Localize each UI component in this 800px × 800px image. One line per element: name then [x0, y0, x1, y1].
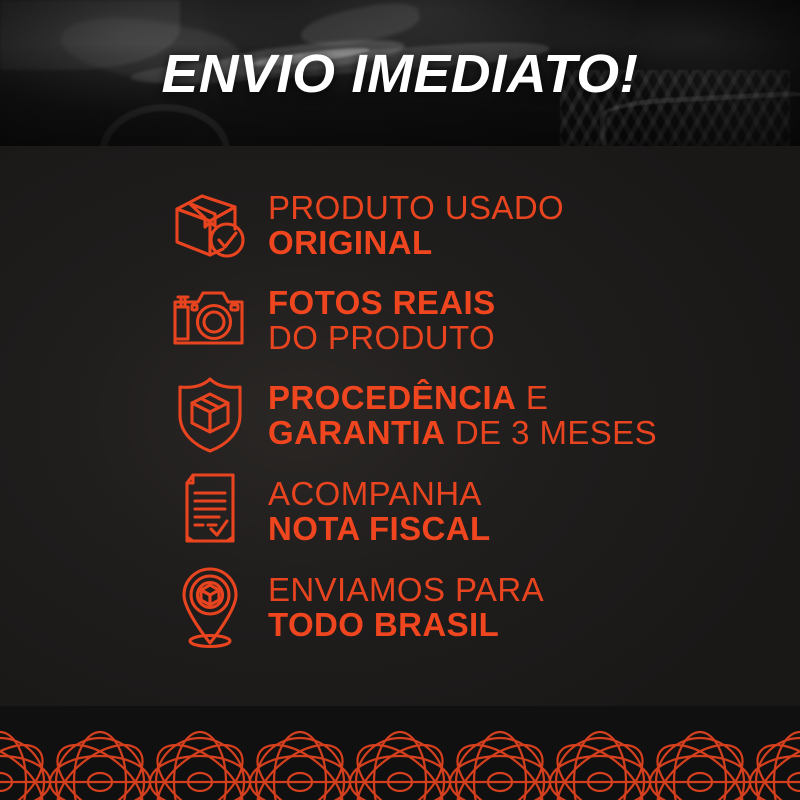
feature-line-2-bold: GARANTIA [268, 414, 445, 451]
feature-item-nota-fiscal: ACOMPANHA NOTA FISCAL [160, 468, 491, 554]
feature-item-todo-brasil: ENVIAMOS PARA TODO BRASIL [160, 564, 544, 650]
feature-line-2: TODO BRASIL [268, 608, 544, 642]
box-check-icon [160, 182, 260, 268]
feature-item-fotos-reais: FOTOS REAIS DO PRODUTO [160, 277, 496, 363]
invoice-check-icon [160, 468, 260, 554]
feature-line-1-bold: PROCEDÊNCIA [268, 379, 516, 416]
feature-line-1: ACOMPANHA [268, 477, 491, 511]
feature-line-1: PROCEDÊNCIA E [268, 381, 657, 415]
feature-text: ENVIAMOS PARA TODO BRASIL [268, 573, 544, 641]
promo-banner: ENVIO IMEDIATO! PROD [0, 0, 800, 800]
feature-line-2: ORIGINAL [268, 226, 564, 260]
feature-item-produto-original: PRODUTO USADO ORIGINAL [160, 182, 564, 268]
feature-line-1: ENVIAMOS PARA [268, 573, 544, 607]
feature-line-1: PRODUTO USADO [268, 191, 564, 225]
banner-header: ENVIO IMEDIATO! [0, 0, 800, 146]
feature-line-1: FOTOS REAIS [268, 286, 496, 320]
camera-icon [160, 277, 260, 363]
feature-line-2: NOTA FISCAL [268, 512, 491, 546]
feature-text: PROCEDÊNCIA E GARANTIA DE 3 MESES [268, 381, 657, 449]
page-title: ENVIO IMEDIATO! [0, 44, 800, 104]
decorative-border-band [0, 706, 800, 800]
floral-pattern [0, 706, 800, 800]
shield-box-icon [160, 372, 260, 458]
features-section: PRODUTO USADO ORIGINAL [0, 146, 800, 706]
feature-text: PRODUTO USADO ORIGINAL [268, 191, 564, 259]
map-pin-box-icon [160, 564, 260, 650]
feature-line-1-thin: E [516, 379, 548, 416]
feature-text: ACOMPANHA NOTA FISCAL [268, 477, 491, 545]
feature-item-procedencia-garantia: PROCEDÊNCIA E GARANTIA DE 3 MESES [160, 372, 657, 458]
feature-text: FOTOS REAIS DO PRODUTO [268, 286, 496, 354]
feature-line-2: DO PRODUTO [268, 321, 496, 355]
feature-line-2-thin: DE 3 MESES [445, 414, 657, 451]
feature-line-2: GARANTIA DE 3 MESES [268, 416, 657, 450]
